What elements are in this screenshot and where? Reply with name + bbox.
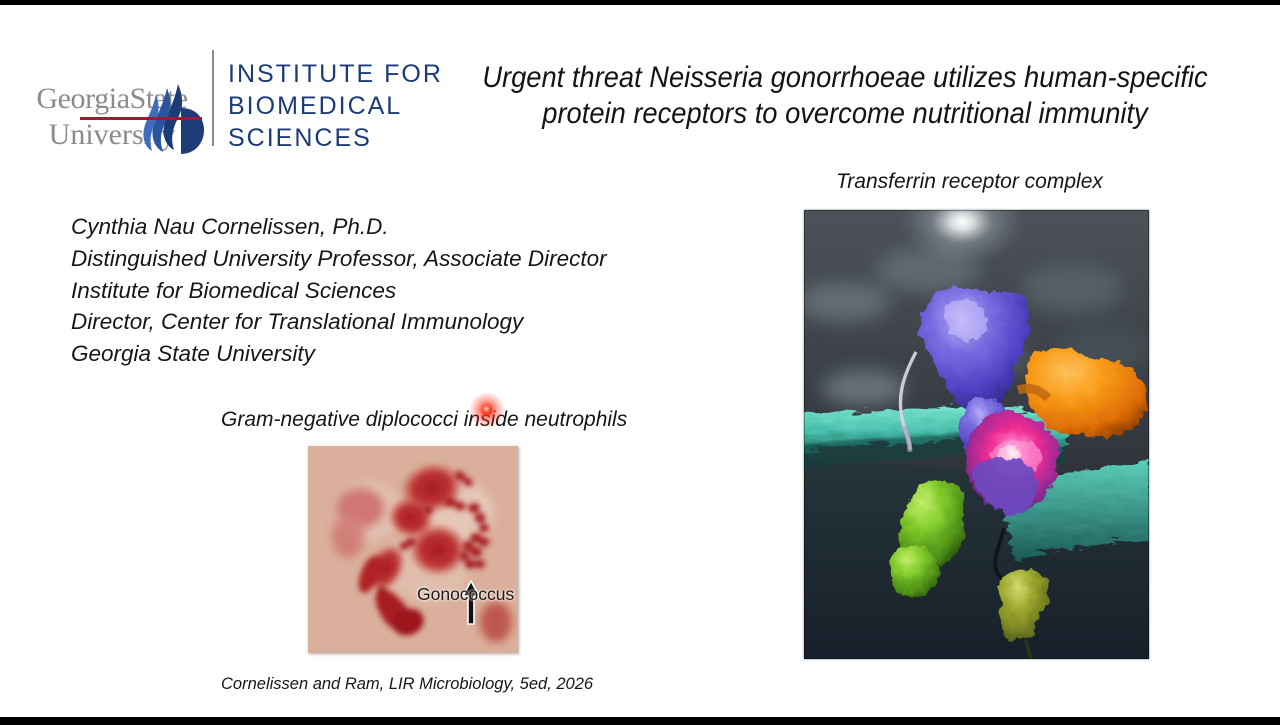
author-affiliation-block: Cynthia Nau Cornelissen, Ph.D. Distingui… bbox=[71, 211, 607, 370]
author-name: Cynthia Nau Cornelissen, Ph.D. bbox=[71, 211, 607, 243]
gsu-torch-flame-icon bbox=[126, 82, 204, 162]
transferrin-figure-caption: Transferrin receptor complex bbox=[836, 170, 1103, 194]
slide-title: Urgent threat Neisseria gonorrhoeae util… bbox=[476, 60, 1213, 131]
author-institute: Institute for Biomedical Sciences bbox=[71, 275, 607, 307]
letterbox-bottom bbox=[0, 717, 1280, 725]
gram-figure-caption: Gram-negative diplococci inside neutroph… bbox=[221, 408, 627, 432]
gsu-wordmark: GeorgiaState University bbox=[14, 84, 210, 150]
institute-wordmark-line1: INSTITUTE FOR bbox=[228, 58, 443, 90]
gsu-institute-logo: GeorgiaState University INSTITUTE FOR BI… bbox=[14, 28, 444, 146]
author-title: Distinguished University Professor, Asso… bbox=[71, 243, 607, 275]
slide-title-line1: Urgent threat Neisseria gonorrhoeae util… bbox=[476, 60, 1213, 96]
gram-figure-citation: Cornelissen and Ram, LIR Microbiology, 5… bbox=[221, 675, 593, 694]
logo-divider bbox=[212, 50, 214, 146]
presentation-slide: GeorgiaState University INSTITUTE FOR BI… bbox=[0, 0, 1280, 725]
author-center: Director, Center for Translational Immun… bbox=[71, 306, 607, 338]
institute-wordmark: INSTITUTE FOR BIOMEDICAL SCIENCES bbox=[228, 58, 443, 154]
gram-stain-image bbox=[308, 446, 518, 653]
institute-wordmark-line3: SCIENCES bbox=[228, 122, 443, 154]
gonococcus-annotation-label: Gonococcus bbox=[417, 584, 514, 605]
institute-wordmark-line2: BIOMEDICAL bbox=[228, 90, 443, 122]
transferrin-receptor-complex-image bbox=[804, 210, 1149, 659]
letterbox-top bbox=[0, 0, 1280, 5]
slide-title-line2: protein receptors to overcome nutritiona… bbox=[476, 96, 1213, 132]
author-university: Georgia State University bbox=[71, 338, 607, 370]
gsu-wordmark-rule bbox=[80, 117, 202, 120]
